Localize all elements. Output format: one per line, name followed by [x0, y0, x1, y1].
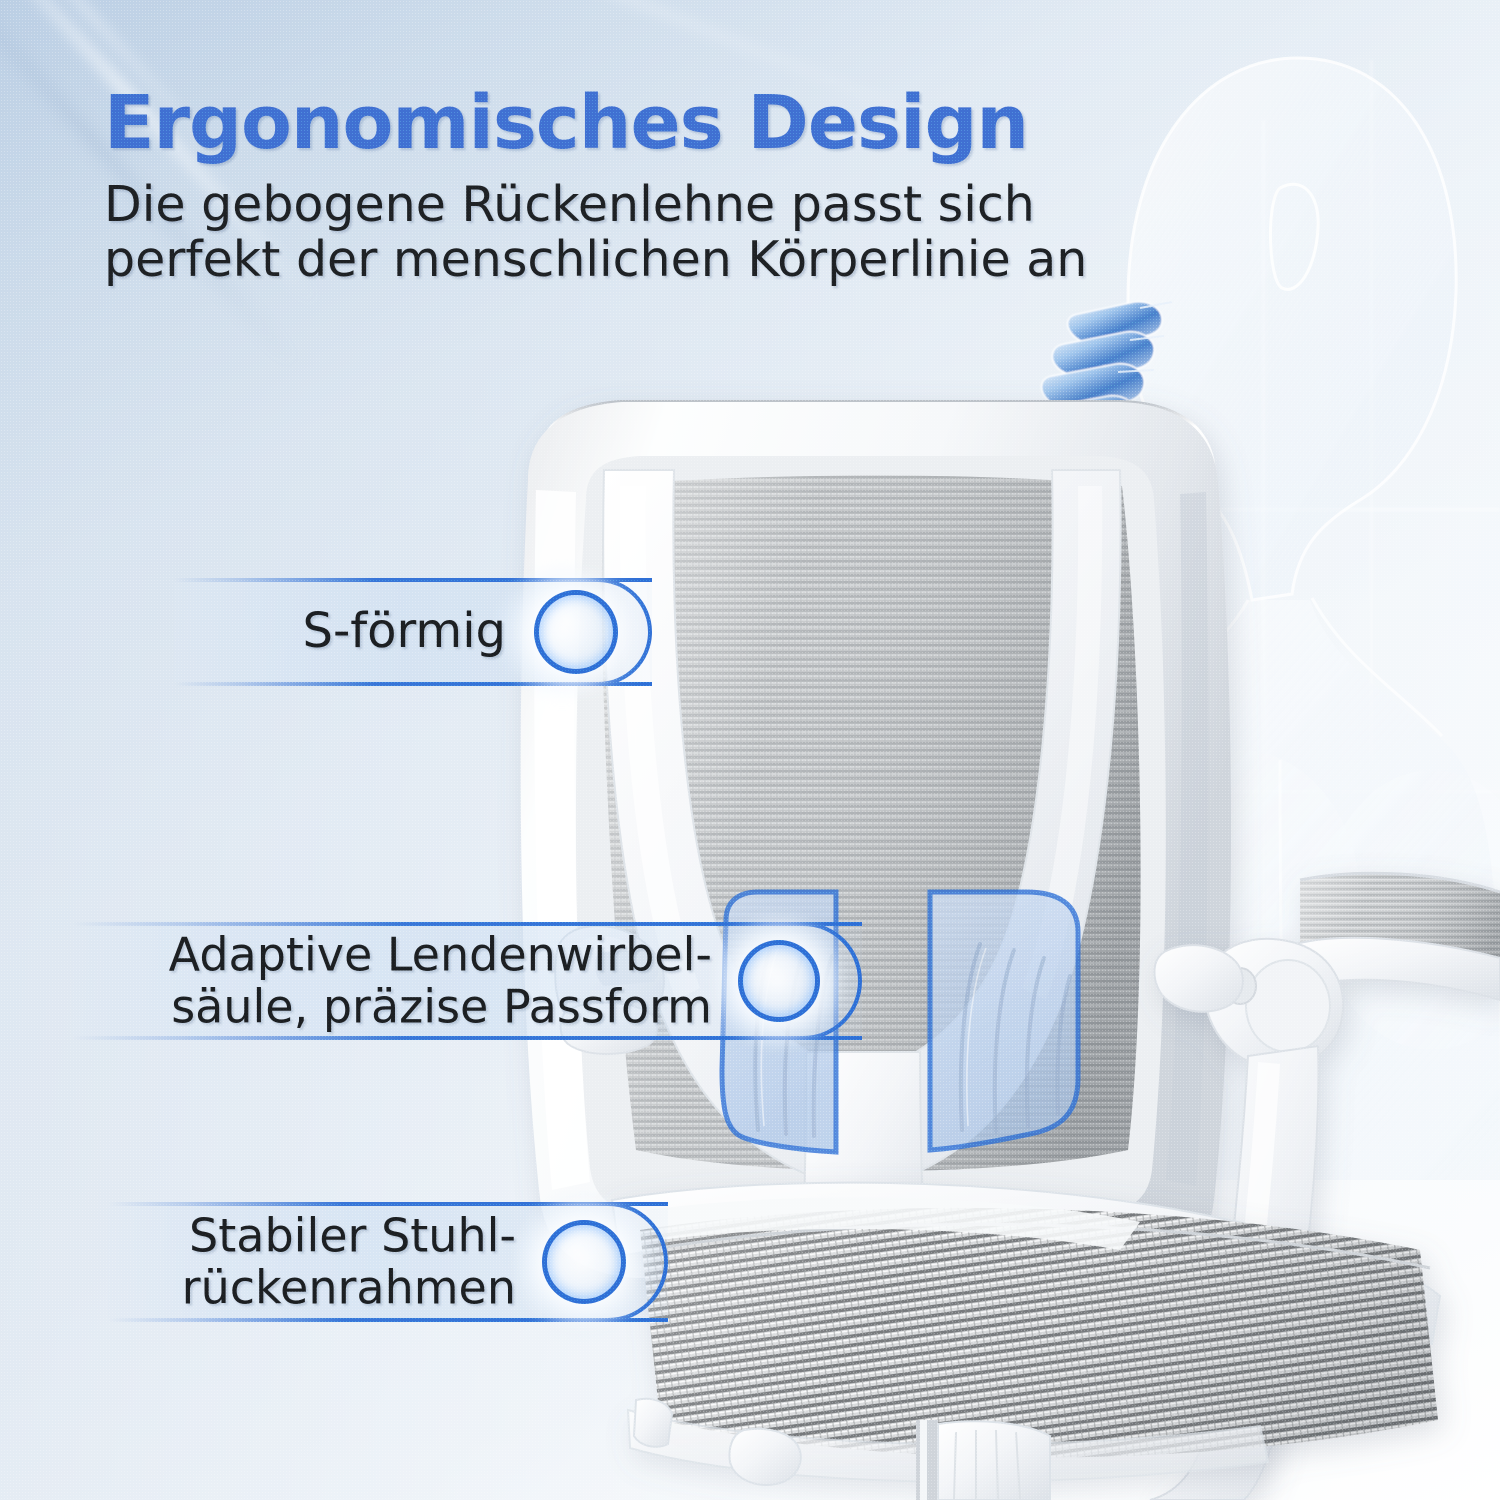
background-noise-texture: [0, 0, 1500, 1500]
product-feature-image: Ergonomisches Design Die gebogene Rücken…: [0, 0, 1500, 1500]
